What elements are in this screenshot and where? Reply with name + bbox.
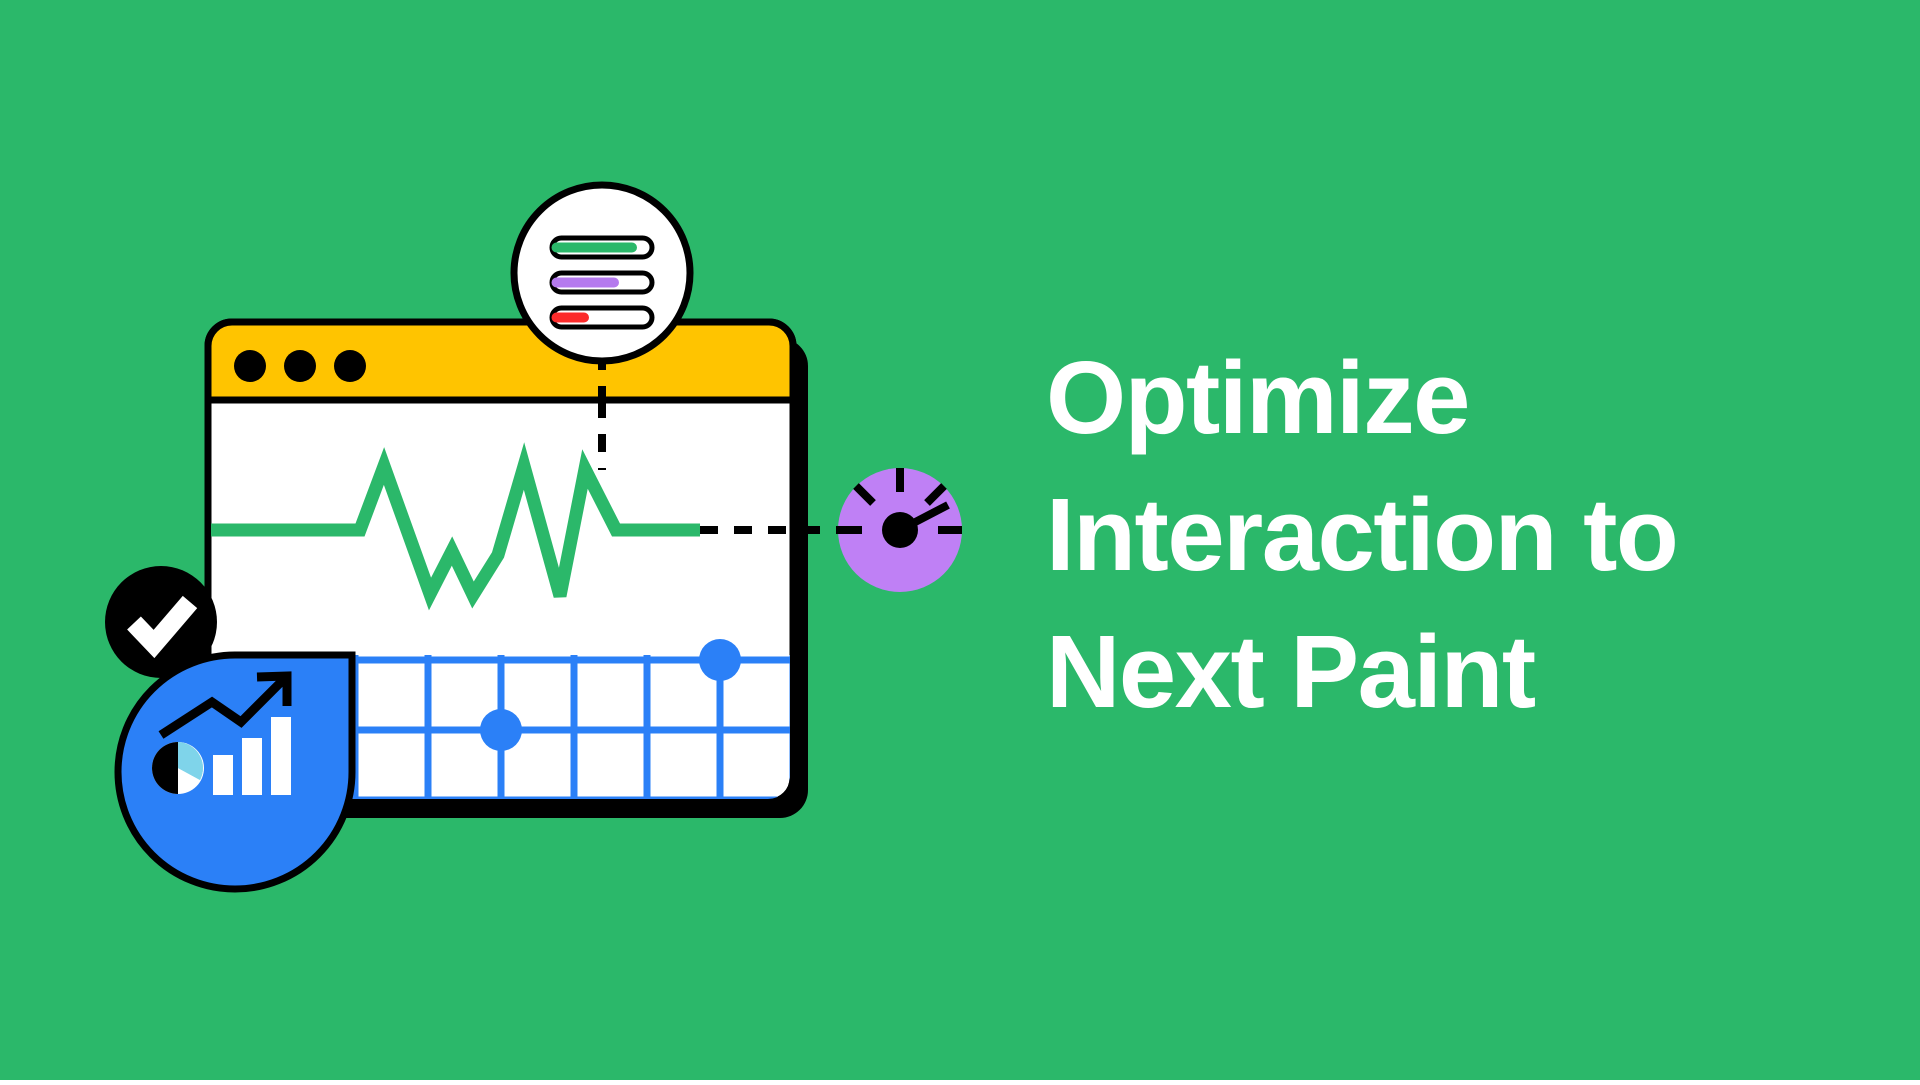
metric-bar-good (552, 238, 653, 257)
inp-performance-illustration (0, 0, 1000, 1080)
page-title-line-1: Optimize (1046, 330, 1876, 467)
metric-bar-needs-improvement (552, 273, 653, 292)
page-title: Optimize Interaction to Next Paint (1046, 330, 1876, 741)
page-title-line-3: Next Paint (1046, 604, 1876, 741)
traffic-light-dot-3[interactable] (334, 350, 366, 382)
metric-bar-poor (552, 308, 653, 327)
browser-traffic-lights[interactable] (234, 350, 366, 382)
bar-3 (271, 717, 291, 795)
speed-gauge[interactable] (838, 468, 962, 592)
data-point-2[interactable] (699, 639, 741, 681)
gauge-hub (882, 512, 918, 548)
hero-banner: Optimize Interaction to Next Paint (0, 0, 1920, 1080)
pie-chart-icon (152, 742, 204, 794)
bar-1 (213, 755, 233, 795)
bar-2 (242, 738, 262, 795)
page-title-line-2: Interaction to (1046, 467, 1876, 604)
traffic-light-dot-1[interactable] (234, 350, 266, 382)
metrics-score-bubble[interactable] (514, 185, 690, 361)
illustration-svg (0, 0, 1000, 1080)
traffic-light-dot-2[interactable] (284, 350, 316, 382)
data-point-1[interactable] (480, 709, 522, 751)
analytics-shield-badge[interactable] (118, 655, 352, 889)
